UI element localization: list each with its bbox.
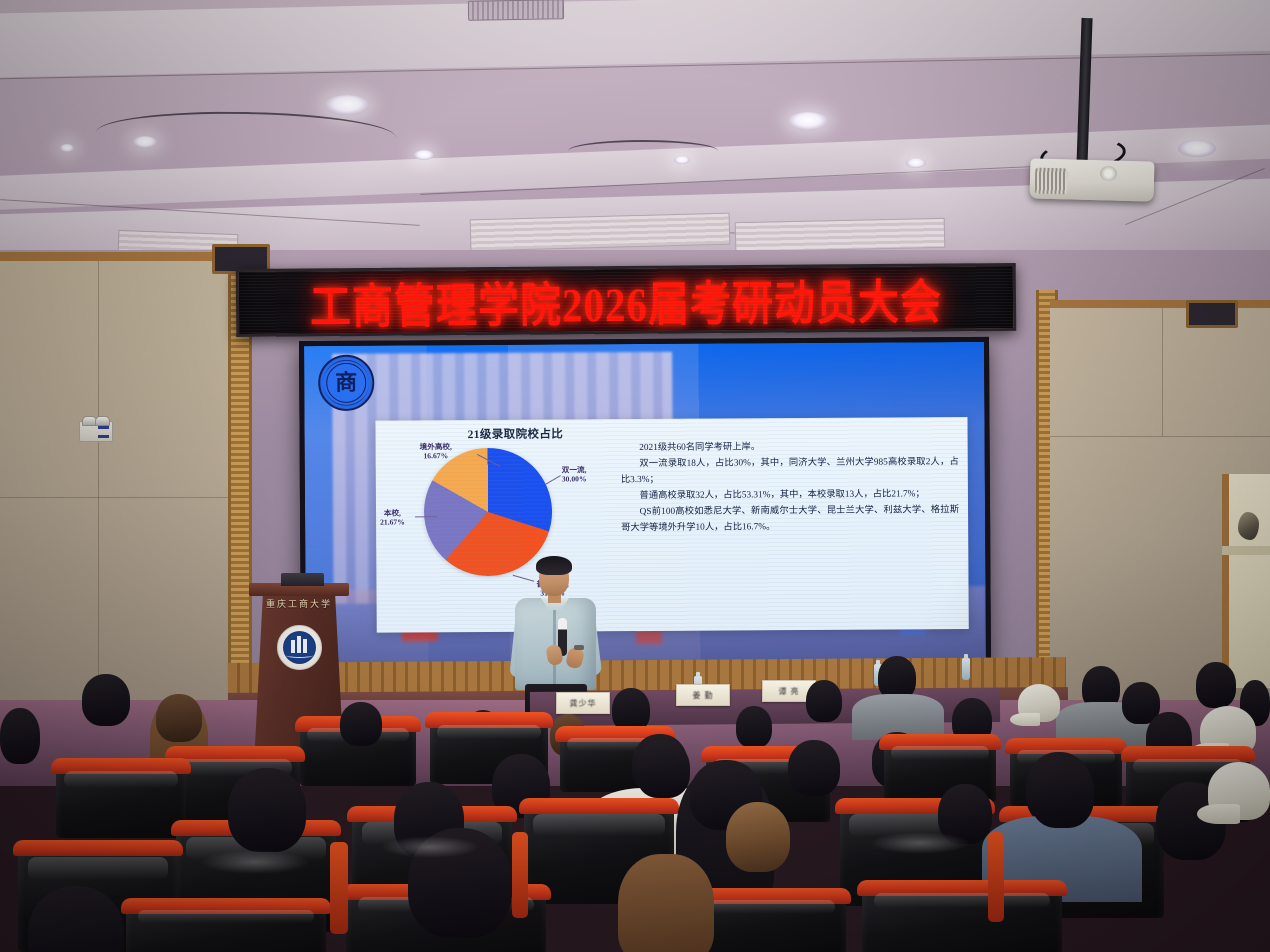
panel-seam [1162, 308, 1163, 436]
pie-label-overseas: 境外高校, 16.67% [420, 442, 452, 461]
seat-armrest [330, 842, 348, 934]
audience-head [806, 680, 842, 722]
side-monitor-right [1186, 300, 1238, 328]
emergency-light-indicator [98, 426, 109, 429]
ceiling-downlight [325, 95, 369, 115]
emergency-light [79, 421, 113, 442]
audience-head [736, 706, 772, 748]
chart-title: 21级录取院校占比 [468, 425, 564, 442]
pie-chart [424, 448, 553, 577]
seat-armrest [988, 832, 1004, 922]
auditorium-photo: 工商管理学院2026届考研动员大会 商 21级录取院校占比 [0, 0, 1270, 952]
audience-area [0, 636, 1270, 952]
auditorium-seat [126, 904, 326, 952]
ceiling-downlight [906, 158, 926, 168]
audience-head [408, 828, 512, 938]
slide-background: 商 21级录取院校占比 境外高校, 16.67% 本校, [304, 342, 986, 668]
university-emblem-icon: 商 [318, 355, 374, 411]
led-banner: 工商管理学院2026届考研动员大会 [236, 263, 1017, 337]
audience-hair-long [618, 854, 714, 952]
pie-label-overseas-value: 16.67% [423, 452, 448, 461]
presentation-screen: 商 21级录取院校占比 境外高校, 16.67% 本校, [299, 337, 991, 673]
slide-paragraph: 双一流录取18人，占比30%，其中，同济大学、兰州大学985高校录取2人，占比3… [621, 455, 959, 489]
decorative-stone [1238, 512, 1259, 540]
speaker-hair [536, 556, 572, 575]
ceiling-downlight [60, 144, 74, 152]
leader-line-ordinary [513, 575, 534, 582]
ceiling-air-vent [468, 0, 564, 21]
lectern-university-name: 重庆工商大学 [256, 597, 342, 610]
audience-head [228, 768, 306, 852]
ceiling-grille [470, 213, 731, 252]
auditorium-seat [862, 886, 1062, 952]
banner-title: 工商管理学院2026届考研动员大会 [310, 263, 943, 337]
leader-line-double-first [545, 475, 561, 485]
pie-label-overseas-name: 境外高校 [420, 442, 450, 451]
ceiling-wire [568, 140, 718, 162]
seat-armrest [512, 832, 528, 918]
emblem-arc [323, 360, 369, 406]
pie-label-double-first: 双一流, 30.00% [562, 465, 587, 484]
pie-label-home-name: 本校 [384, 509, 399, 518]
lectern-laptop [281, 573, 324, 586]
panel-seam [0, 497, 232, 498]
panel-seam [1050, 436, 1270, 437]
pie-label-double-first-name: 双一流 [562, 465, 585, 474]
audience-head [0, 708, 40, 764]
audience-head [1030, 756, 1094, 828]
audience-head [82, 674, 130, 726]
ceiling-downlight [414, 150, 434, 160]
ceiling-downlight [788, 112, 828, 130]
audience-head [636, 740, 690, 798]
slide-paragraph: QS前100高校如悉尼大学、新南威尔士大学、昆士兰大学、利兹大学、格拉斯哥大学等… [621, 503, 959, 537]
pie-label-double-first-value: 30.00% [562, 475, 587, 484]
slide-content-card: 21级录取院校占比 境外高校, 16.67% 本校, 21.67% [375, 417, 968, 633]
leader-line-home [415, 516, 437, 517]
pie-label-home-value: 21.67% [380, 518, 405, 527]
audience-head [938, 784, 992, 844]
pie-label-home: 本校, 21.67% [380, 508, 405, 527]
ceiling-downlight [1178, 140, 1216, 157]
alcove-shelf [1222, 546, 1270, 555]
audience-head-with-cap [1208, 762, 1270, 820]
slide-body-text: 2021级共60名同学考研上岸。 双一流录取18人，占比30%，其中，同济大学、… [621, 439, 960, 537]
auditorium-seat [56, 764, 186, 838]
projector-vent [1035, 168, 1068, 195]
audience-head [156, 694, 202, 742]
audience-head [726, 802, 790, 872]
ceiling-grille [735, 218, 946, 252]
audience-head [1196, 662, 1236, 708]
audience-head [788, 740, 840, 796]
audience-head [340, 702, 382, 746]
audience-head-with-cap [1018, 684, 1060, 722]
emergency-light-indicator [98, 435, 109, 438]
